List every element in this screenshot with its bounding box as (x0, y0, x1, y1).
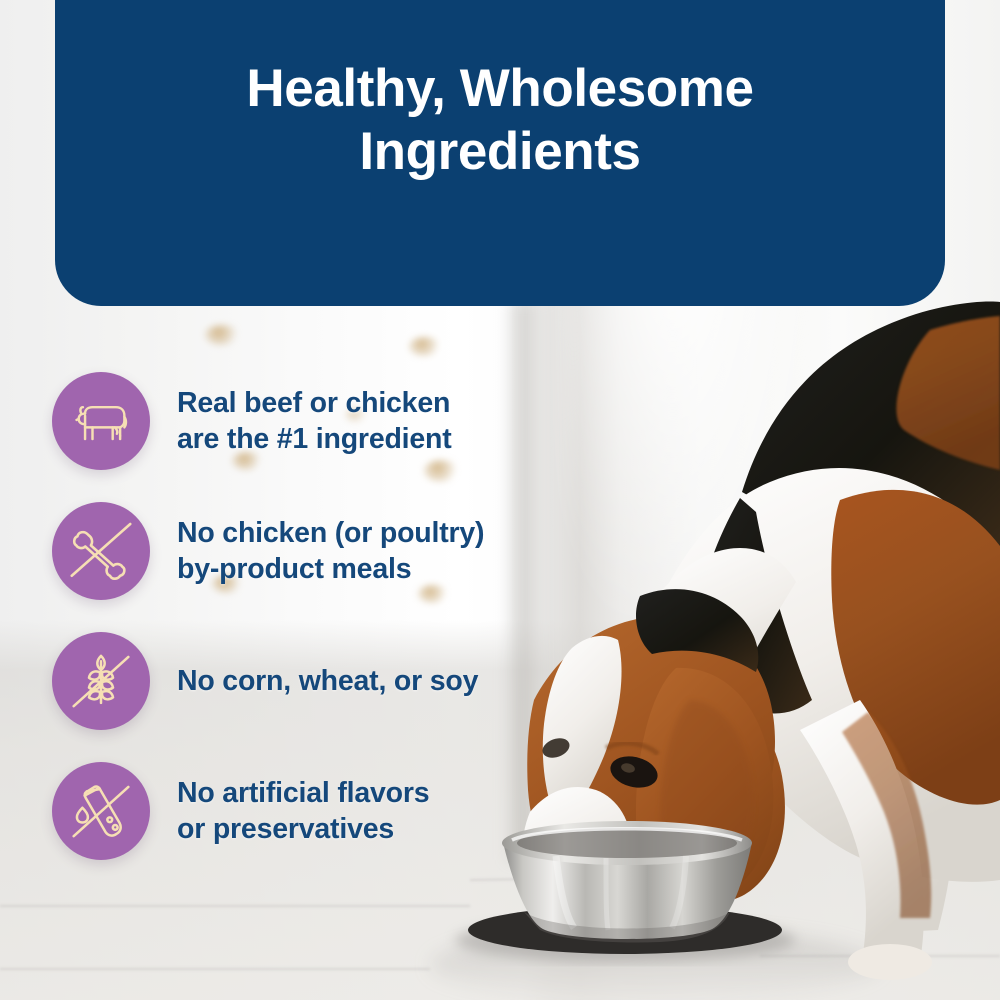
feature-line-2: are the #1 ingredient (177, 423, 452, 455)
cow-icon (52, 372, 150, 470)
feature-line-2: or preservatives (177, 813, 394, 845)
wheat-icon (52, 632, 150, 730)
feature-label: No corn, wheat, or soy (177, 663, 478, 699)
feature-item-no-artificial: No artificial flavors or preservatives (52, 746, 572, 876)
feature-label: Real beef or chicken are the #1 ingredie… (177, 385, 452, 457)
feature-line-2: by-product meals (177, 553, 411, 585)
feature-item-real-meat: Real beef or chicken are the #1 ingredie… (52, 356, 572, 486)
feature-label: No chicken (or poultry) by-product meals (177, 515, 484, 587)
test-tube-icon (52, 762, 150, 860)
bowl-highlight (606, 858, 608, 930)
feature-item-no-byproduct: No chicken (or poultry) by-product meals (52, 486, 572, 616)
feature-label: No artificial flavors or preservatives (177, 775, 429, 847)
feature-line-1: No corn, wheat, or soy (177, 665, 478, 697)
header-panel: Healthy, Wholesome Ingredients (55, 0, 945, 306)
feature-line-1: No chicken (or poultry) (177, 517, 484, 549)
feature-item-no-grain: No corn, wheat, or soy (52, 616, 572, 746)
bone-icon (52, 502, 150, 600)
promo-graphic: Healthy, Wholesome Ingredients (0, 0, 1000, 1000)
page-title: Healthy, Wholesome Ingredients (140, 58, 860, 183)
feature-line-1: No artificial flavors (177, 777, 429, 809)
feature-list: Real beef or chicken are the #1 ingredie… (52, 356, 572, 876)
feature-line-1: Real beef or chicken (177, 387, 450, 419)
